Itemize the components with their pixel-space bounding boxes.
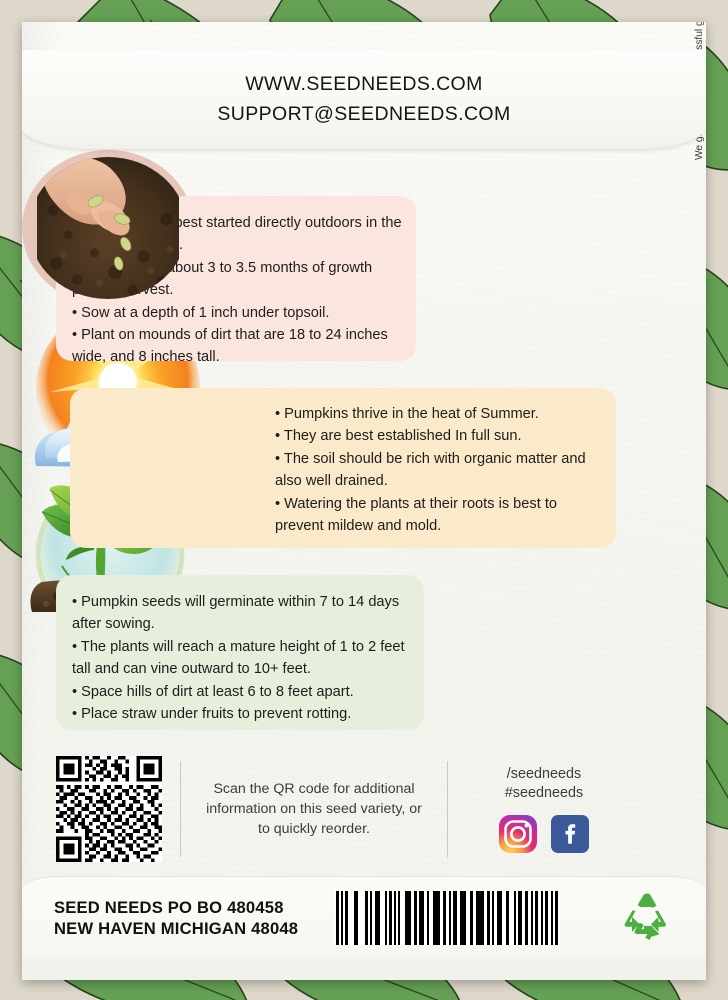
address-line-1: SEED NEEDS PO BO 480458 [54, 897, 298, 918]
return-address: SEED NEEDS PO BO 480458 NEW HAVEN MICHIG… [54, 897, 298, 939]
bullet-item: • The plants will reach a mature height … [72, 636, 412, 681]
qr-code[interactable] [56, 756, 162, 862]
seed-packet: WWW.SEEDNEEDS.COM SUPPORT@SEEDNEEDS.COM … [22, 22, 706, 980]
social-icons-row [472, 815, 616, 853]
email-text: SUPPORT@SEEDNEEDS.COM [217, 103, 510, 126]
scan-instruction-text: Scan the QR code for additional informat… [199, 779, 429, 839]
bullet-item: • Space hills of dirt at least 6 to 8 fe… [72, 681, 412, 703]
packet-bottom-flap: SEED NEEDS PO BO 480458 NEW HAVEN MICHIG… [22, 876, 706, 958]
facebook-icon[interactable] [551, 815, 589, 853]
germination-bullets: • Pumpkin seeds will germinate within 7 … [72, 591, 412, 725]
strip-divider-right [447, 761, 448, 857]
address-line-2: NEW HAVEN MICHIGAN 48048 [54, 918, 298, 939]
bullet-item: • They are best established In full sun. [275, 425, 602, 447]
info-block-germination: • Pumpkin seeds will germinate within 7 … [56, 575, 424, 730]
packet-top-flap: WWW.SEEDNEEDS.COM SUPPORT@SEEDNEEDS.COM [22, 50, 706, 150]
qr-social-strip: Scan the QR code for additional informat… [56, 750, 616, 868]
bullet-item: • Sow at a depth of 1 inch under topsoil… [72, 302, 402, 324]
qr-code-icon[interactable] [56, 756, 162, 862]
social-handle: /seedneeds [472, 765, 616, 784]
bullet-item: • Pumpkin seeds will germinate within 7 … [72, 591, 412, 636]
recycle-icon [620, 890, 674, 945]
instagram-icon[interactable] [499, 815, 537, 853]
bullet-item: • Watering the plants at their roots is … [275, 493, 602, 538]
barcode [334, 891, 560, 945]
packet-body: We guarantee the successful growth of al… [22, 150, 706, 980]
sun-bullets: • Pumpkins thrive in the heat of Summer.… [275, 403, 602, 537]
info-block-sun-and-soil: • Pumpkins thrive in the heat of Summer.… [70, 388, 616, 548]
bullet-item: • Plant on mounds of dirt that are 18 to… [72, 324, 402, 369]
recycle-symbol-icon [620, 890, 674, 940]
strip-divider-left [180, 761, 181, 857]
hand-soil-illustration [29, 157, 187, 299]
website-text: WWW.SEEDNEEDS.COM [245, 73, 483, 96]
bullet-item: • Pumpkins thrive in the heat of Summer. [275, 403, 602, 425]
barcode-icon [334, 891, 560, 945]
social-block: /seedneeds #seedneeds [466, 765, 616, 853]
social-hashtag: #seedneeds [472, 784, 616, 803]
guarantee-block: We guarantee the successful growth of al… [630, 158, 696, 698]
packet-bottom-skirt [22, 956, 706, 980]
bullet-item: • The soil should be rich with organic m… [275, 448, 602, 493]
bullet-item: • Place straw under fruits to prevent ro… [72, 703, 412, 725]
